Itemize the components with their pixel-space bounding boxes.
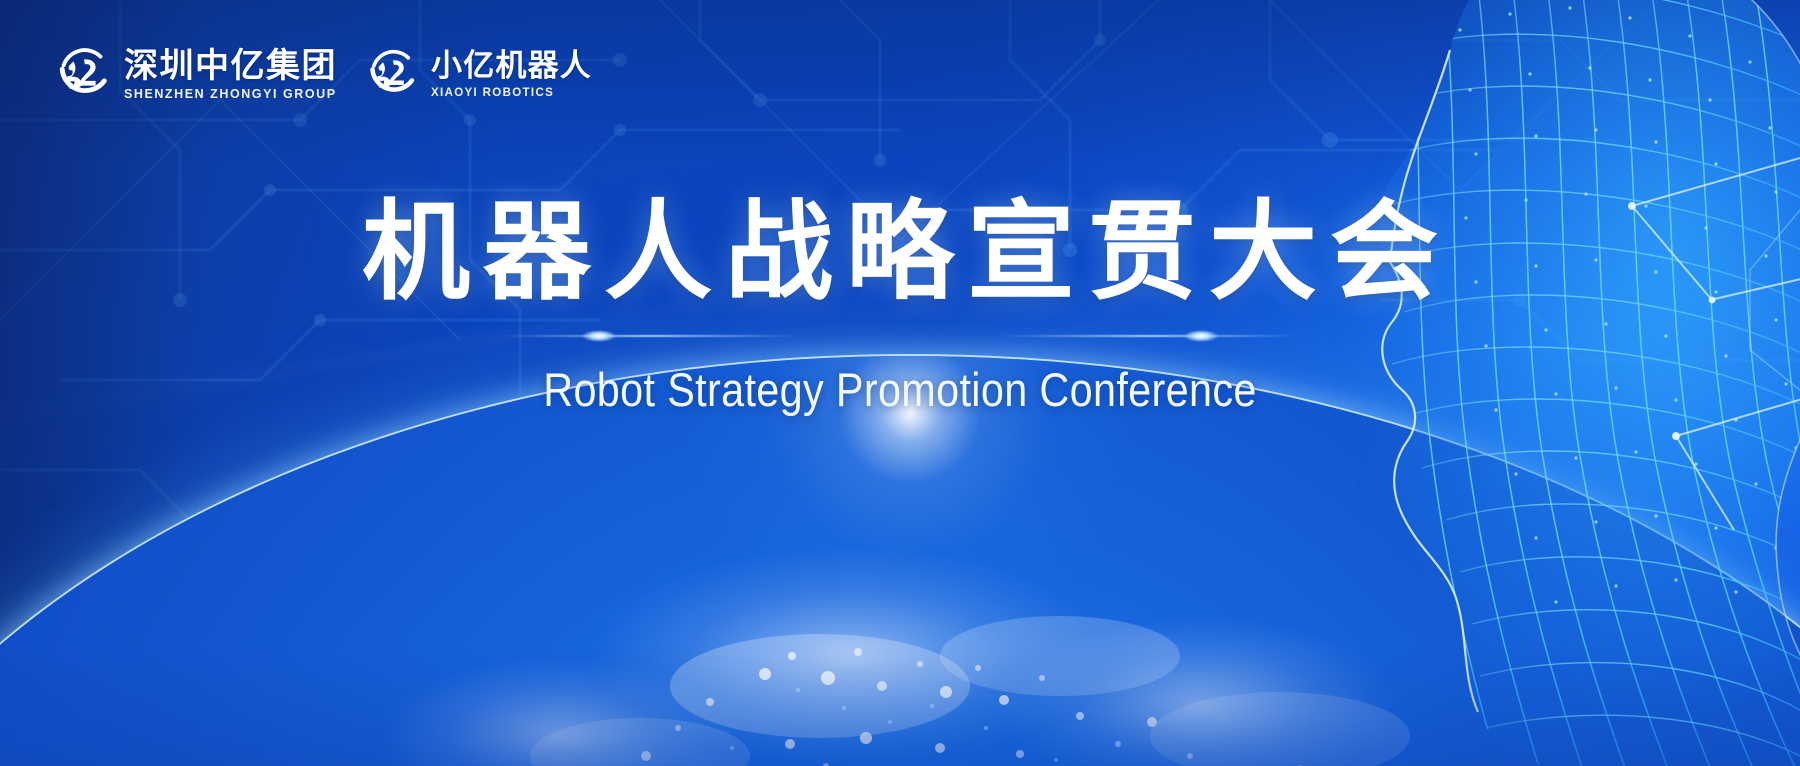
zhongyi-circle-emblem-icon [52,44,114,106]
logo-text-group: 小亿机器人 XIAOYI ROBOTICS [431,50,592,100]
earth-horizon-globe [0,356,1800,766]
logo-shenzhen-zhongyi-group: 深圳中亿集团 SHENZHEN ZHONGYI GROUP [52,44,337,106]
logo-xiaoyi-robotics: 小亿机器人 XIAOYI ROBOTICS [363,46,592,104]
logo-bar: 深圳中亿集团 SHENZHEN ZHONGYI GROUP 小亿机器人 XIAO… [52,44,592,106]
logo-en-name: SHENZHEN ZHONGYI GROUP [124,87,337,103]
logo-cn-name: 小亿机器人 [431,50,592,83]
xiaoyi-circle-emblem-icon [363,46,421,104]
conference-banner: 深圳中亿集团 SHENZHEN ZHONGYI GROUP 小亿机器人 XIAO… [0,0,1800,766]
logo-cn-name: 深圳中亿集团 [124,48,337,84]
logo-en-name: XIAOYI ROBOTICS [431,86,592,100]
logo-text-group: 深圳中亿集团 SHENZHEN ZHONGYI GROUP [124,48,337,103]
earth-city-lights [0,356,1800,766]
